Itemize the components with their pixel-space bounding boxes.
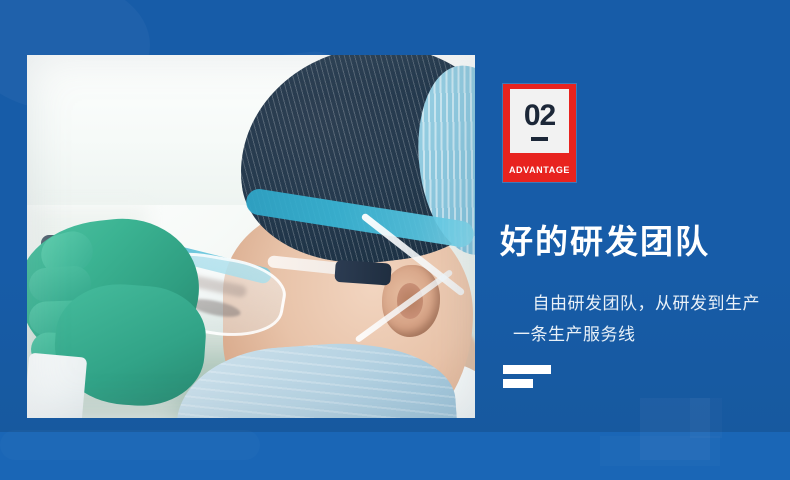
subtitle-line-2: 一条生产服务线 xyxy=(480,319,762,350)
subtitle: 自由研发团队，从研发到生产 一条生产服务线 xyxy=(480,288,762,351)
watermark-shape-4 xyxy=(690,398,722,438)
lab-technician-photo xyxy=(27,55,475,418)
watermark-shape-5 xyxy=(600,436,720,466)
decorative-bar-short xyxy=(503,379,533,388)
promo-banner: 02 ADVANTAGE 好的研发团队 自由研发团队，从研发到生产 一条生产服务… xyxy=(0,0,790,480)
page-title: 好的研发团队 xyxy=(500,222,762,262)
advantage-badge-dash xyxy=(531,137,548,141)
advantage-badge-number: 02 xyxy=(524,101,555,131)
advantage-badge-panel: 02 xyxy=(510,89,569,153)
watermark-shape-6 xyxy=(0,430,260,460)
photo-vignette xyxy=(27,55,475,418)
subtitle-line-1: 自由研发团队，从研发到生产 xyxy=(480,288,762,319)
decorative-bar-long xyxy=(503,365,551,374)
advantage-badge-label: ADVANTAGE xyxy=(503,158,576,182)
